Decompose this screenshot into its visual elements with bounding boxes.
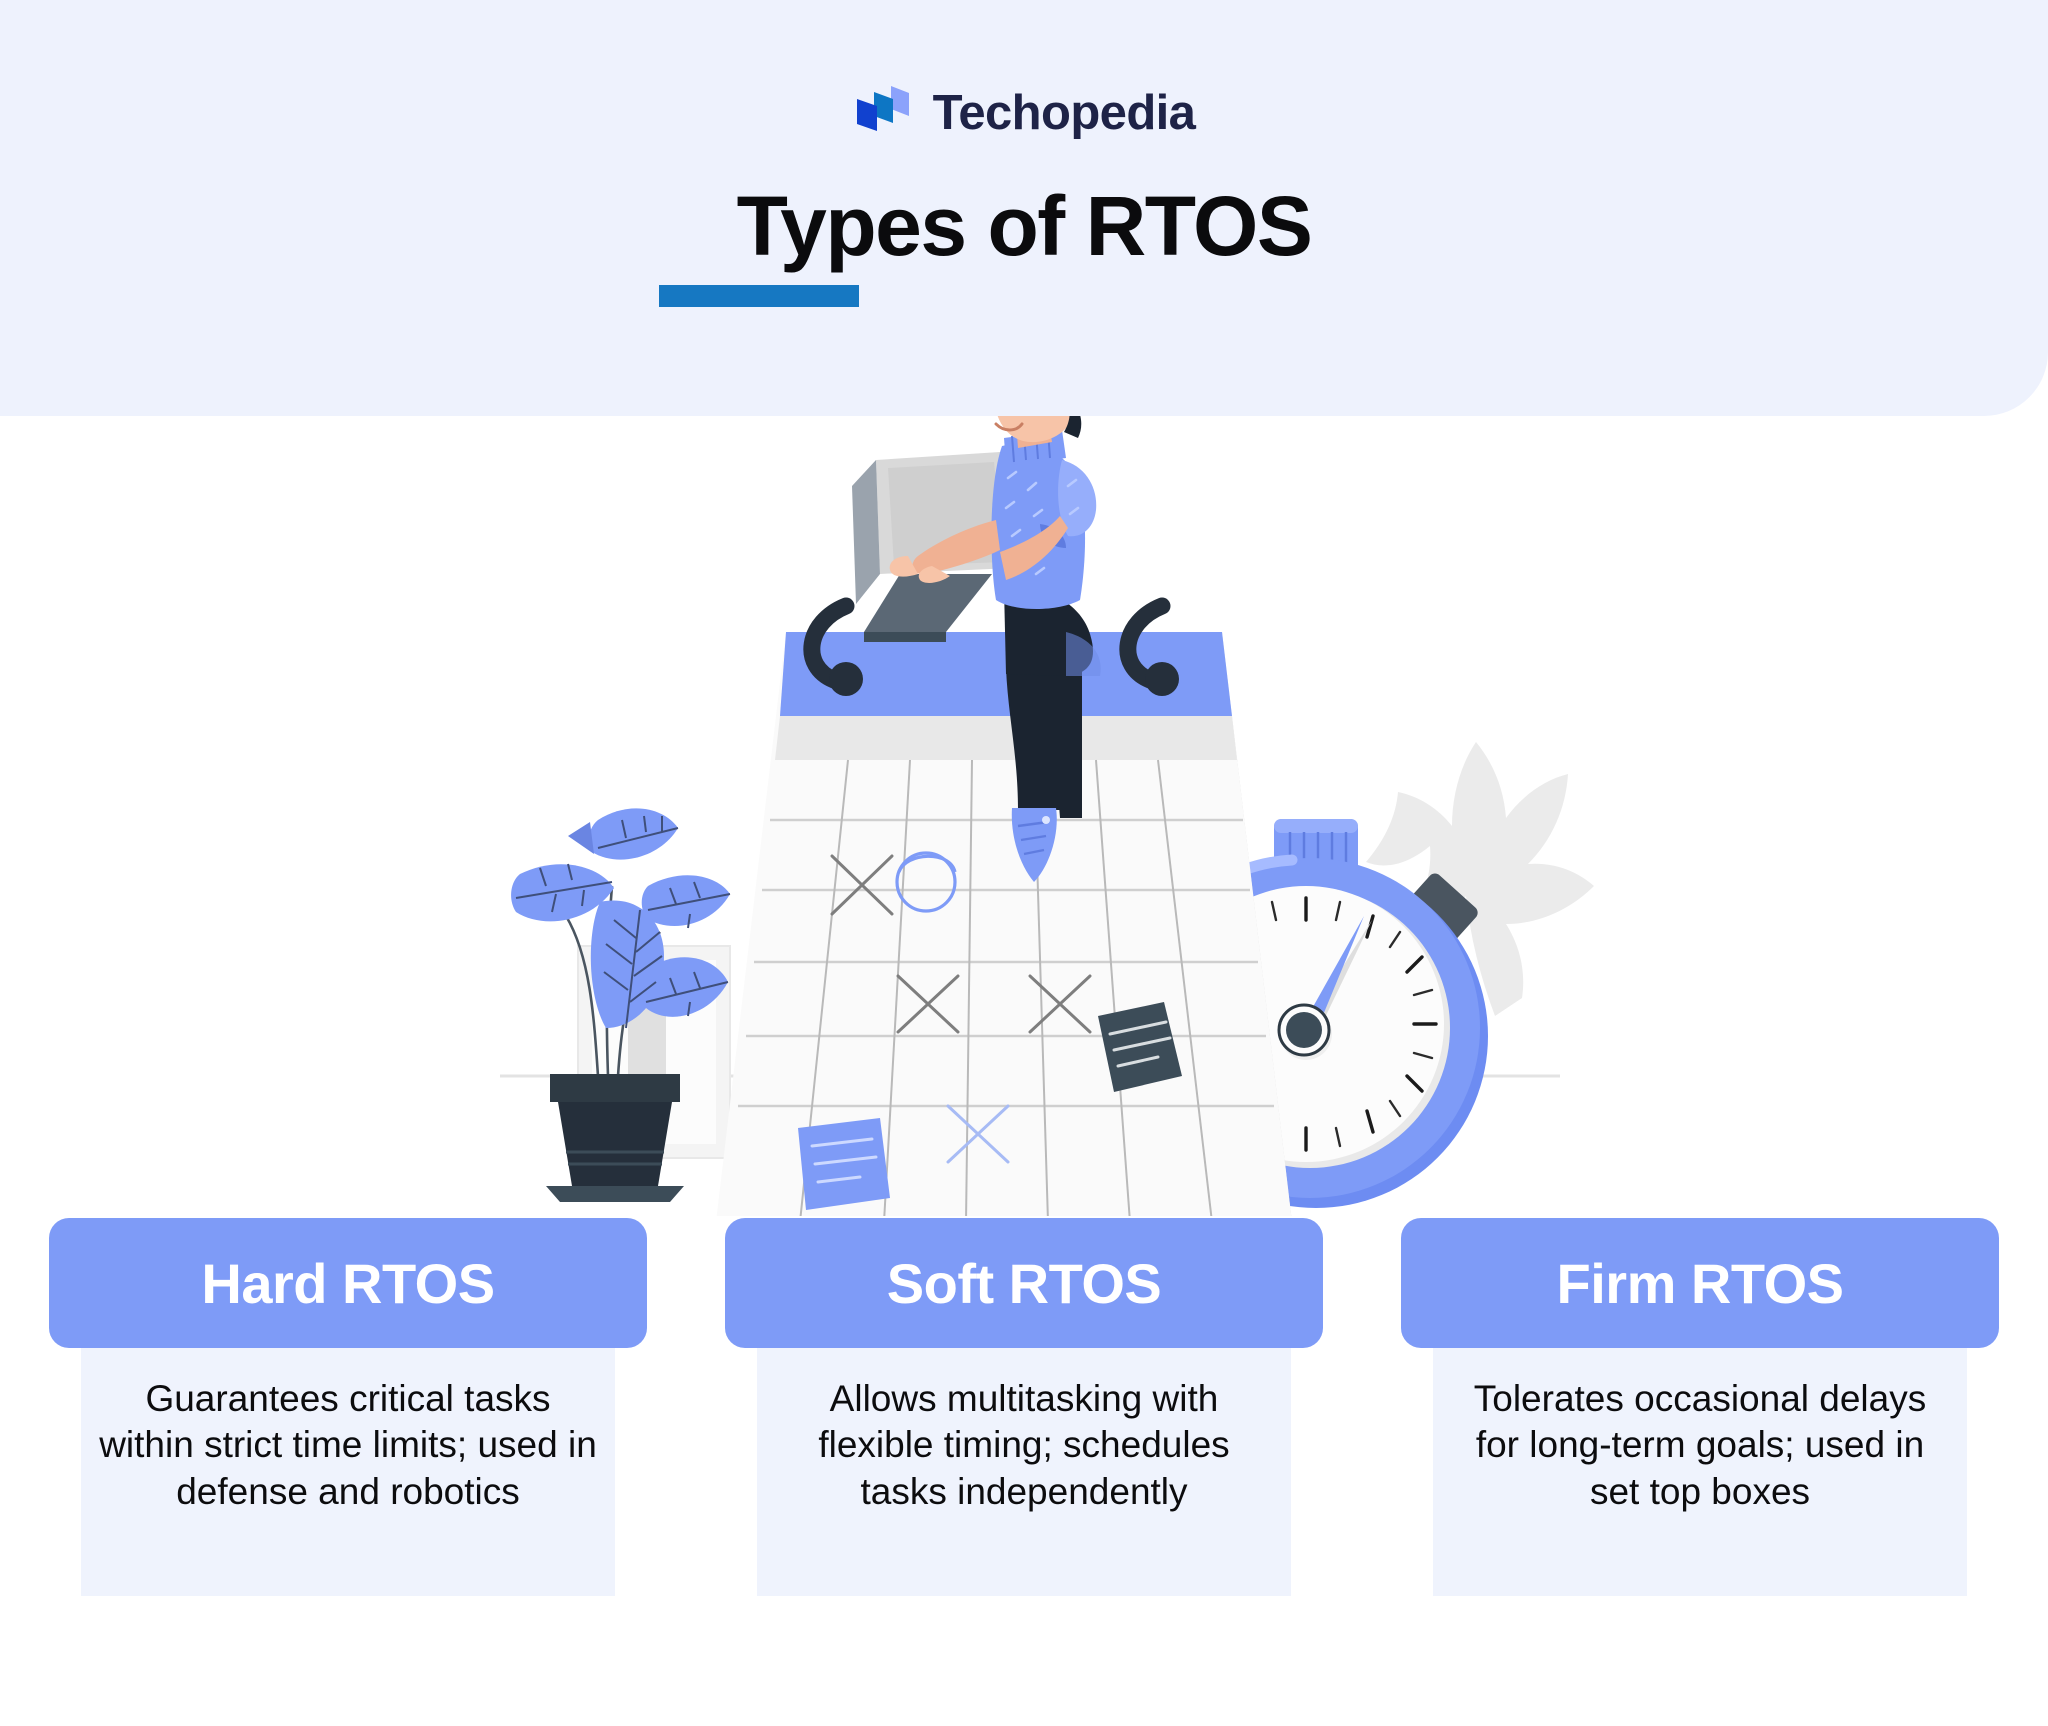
title-block: Types of RTOS — [659, 182, 1389, 307]
techopedia-logo-icon — [853, 82, 915, 144]
hero-illustration — [0, 416, 2048, 1216]
card-description-soft-rtos: Allows multitasking with flexible timing… — [757, 1348, 1291, 1596]
rtos-type-cards: Hard RTOS Guarantees critical tasks with… — [0, 1218, 2048, 1596]
card-soft-rtos: Soft RTOS Allows multitasking with flexi… — [725, 1218, 1323, 1596]
card-description-firm-rtos: Tolerates occasional delays for long-ter… — [1433, 1348, 1967, 1596]
card-hard-rtos: Hard RTOS Guarantees critical tasks with… — [49, 1218, 647, 1596]
brand-name: Techopedia — [933, 89, 1196, 138]
desk-calendar — [716, 606, 1292, 1216]
calendar-sticky-note-blue — [798, 1118, 890, 1210]
infographic-page: Techopedia Types of RTOS — [0, 0, 2048, 1726]
card-description-hard-rtos: Guarantees critical tasks within strict … — [81, 1348, 615, 1596]
header-banner: Techopedia Types of RTOS — [0, 0, 2048, 416]
card-title-firm-rtos: Firm RTOS — [1401, 1218, 1999, 1348]
card-title-hard-rtos: Hard RTOS — [49, 1218, 647, 1348]
title-underline — [659, 285, 859, 307]
brand-lockup: Techopedia — [853, 82, 1196, 144]
card-title-soft-rtos: Soft RTOS — [725, 1218, 1323, 1348]
page-title: Types of RTOS — [737, 182, 1312, 271]
card-firm-rtos: Firm RTOS Tolerates occasional delays fo… — [1401, 1218, 1999, 1596]
